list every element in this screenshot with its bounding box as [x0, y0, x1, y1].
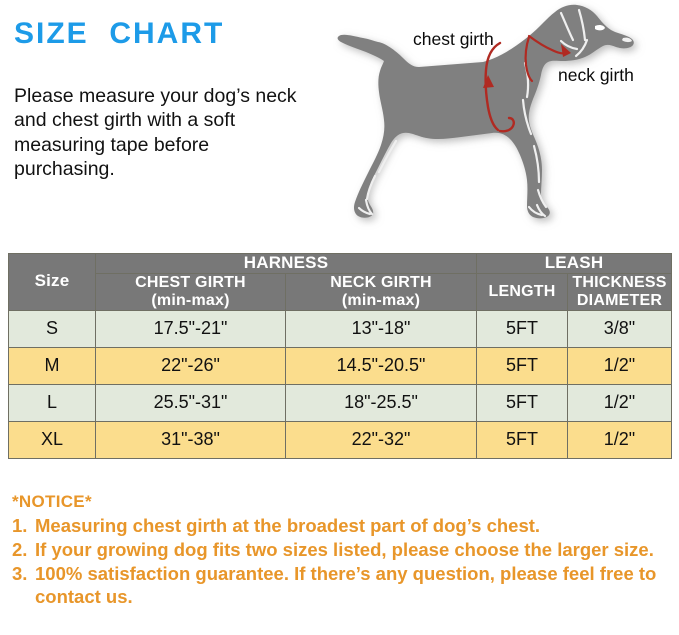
table-header-sub-row: CHEST GIRTH (min-max) NECK GIRTH (min-ma… [9, 273, 672, 310]
header-thickness-diameter: THICKNESS DIAMETER [568, 273, 672, 310]
cell-chest-girth: 17.5"-21" [96, 310, 286, 347]
notice-item: 2. If your growing dog fits two sizes li… [12, 539, 672, 562]
header-neck-girth: NECK GIRTH (min-max) [286, 273, 477, 310]
cell-chest-girth: 25.5"-31" [96, 384, 286, 421]
notice-item-text: Measuring chest girth at the broadest pa… [35, 515, 672, 538]
notice-item-text: If your growing dog fits two sizes liste… [35, 539, 672, 562]
cell-chest-girth: 22"-26" [96, 347, 286, 384]
cell-neck-girth: 22"-32" [286, 421, 477, 458]
cell-size: M [9, 347, 96, 384]
header-chest-girth-title: CHEST GIRTH [96, 274, 285, 292]
header-leash: LEASH [477, 254, 672, 274]
intro-section: SIZE CHART Please measure your dog’s nec… [14, 18, 334, 182]
cell-thickness-diameter: 1/2" [568, 347, 672, 384]
dog-measurement-diagram: chest girth neck girth [333, 0, 679, 232]
header-diameter: DIAMETER [568, 292, 671, 310]
cell-size: XL [9, 421, 96, 458]
notice-item: 3. 100% satisfaction guarantee. If there… [12, 563, 672, 609]
cell-thickness-diameter: 3/8" [568, 310, 672, 347]
cell-leash-length: 5FT [477, 310, 568, 347]
cell-neck-girth: 14.5"-20.5" [286, 347, 477, 384]
cell-leash-length: 5FT [477, 384, 568, 421]
cell-thickness-diameter: 1/2" [568, 384, 672, 421]
notice-item-number: 1. [12, 515, 35, 538]
header-leash-length: LENGTH [477, 273, 568, 310]
table-row: M 22"-26" 14.5"-20.5" 5FT 1/2" [9, 347, 672, 384]
size-chart-table: Size HARNESS LEASH CHEST GIRTH (min-max)… [8, 253, 672, 459]
notice-heading: *NOTICE* [12, 492, 672, 512]
cell-thickness-diameter: 1/2" [568, 421, 672, 458]
table-row: L 25.5"-31" 18"-25.5" 5FT 1/2" [9, 384, 672, 421]
table-row: XL 31"-38" 22"-32" 5FT 1/2" [9, 421, 672, 458]
notice-section: *NOTICE* 1. Measuring chest girth at the… [12, 492, 672, 610]
size-table-container: Size HARNESS LEASH CHEST GIRTH (min-max)… [8, 253, 671, 459]
chest-girth-label: chest girth [413, 29, 494, 50]
header-neck-girth-note: (min-max) [286, 292, 476, 310]
notice-item-number: 2. [12, 539, 35, 562]
intro-paragraph: Please measure your dog’s neck and chest… [14, 84, 306, 182]
dog-silhouette-icon [333, 0, 679, 232]
cell-size: L [9, 384, 96, 421]
page-title: SIZE CHART [14, 18, 334, 50]
header-chest-girth-note: (min-max) [96, 292, 285, 310]
notice-item-text: 100% satisfaction guarantee. If there’s … [35, 563, 672, 609]
header-neck-girth-title: NECK GIRTH [286, 274, 476, 292]
table-row: S 17.5"-21" 13"-18" 5FT 3/8" [9, 310, 672, 347]
neck-girth-label: neck girth [558, 65, 634, 86]
notice-item-number: 3. [12, 563, 35, 586]
table-body: S 17.5"-21" 13"-18" 5FT 3/8" M 22"-26" 1… [9, 310, 672, 458]
cell-leash-length: 5FT [477, 421, 568, 458]
cell-size: S [9, 310, 96, 347]
cell-neck-girth: 18"-25.5" [286, 384, 477, 421]
header-size: Size [9, 254, 96, 311]
cell-chest-girth: 31"-38" [96, 421, 286, 458]
header-thickness: THICKNESS [568, 274, 671, 292]
notice-item: 1. Measuring chest girth at the broadest… [12, 515, 672, 538]
cell-neck-girth: 13"-18" [286, 310, 477, 347]
header-harness: HARNESS [96, 254, 477, 274]
cell-leash-length: 5FT [477, 347, 568, 384]
table-header-group-row: Size HARNESS LEASH [9, 254, 672, 274]
header-chest-girth: CHEST GIRTH (min-max) [96, 273, 286, 310]
notice-list: 1. Measuring chest girth at the broadest… [12, 515, 672, 609]
